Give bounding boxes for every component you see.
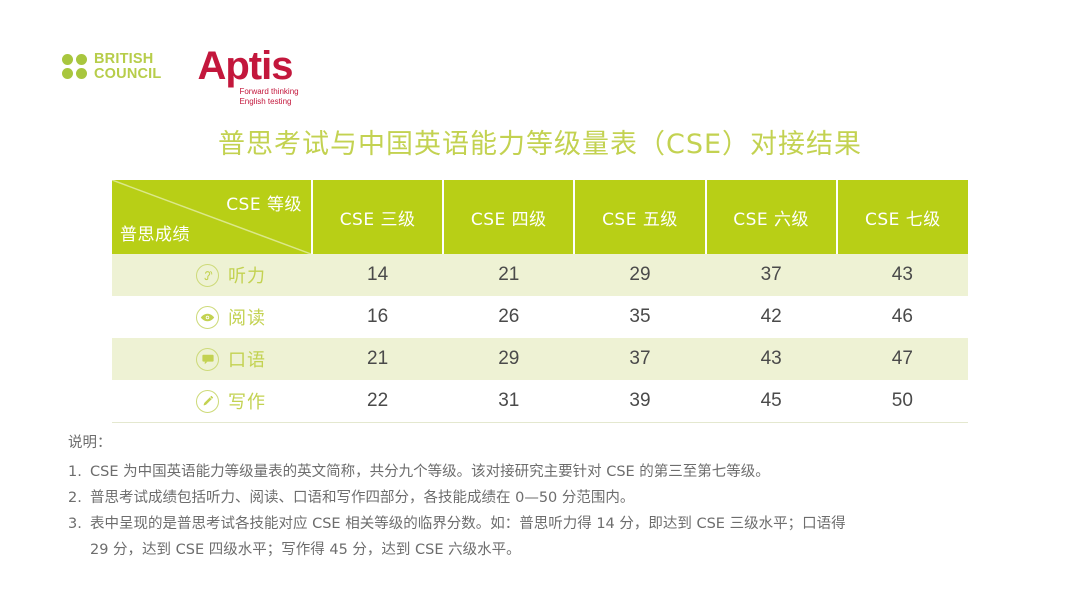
cell-speaking-cse7: 47	[837, 338, 968, 380]
logo-bar: BRITISH COUNCIL Aptis Forward thinking E…	[62, 46, 299, 106]
cell-writing-cse5: 39	[574, 380, 705, 423]
cell-speaking-cse4: 29	[443, 338, 574, 380]
corner-label-rows: 普思成绩	[120, 220, 190, 245]
cell-writing-cse3: 22	[312, 380, 443, 423]
british-council-wordmark: BRITISH COUNCIL	[94, 52, 161, 82]
table-row: 阅读 16 26 35 42 46	[112, 296, 968, 338]
cell-speaking-cse6: 43	[706, 338, 837, 380]
note-item-3: 3. 表中呈现的是普思考试各技能对应 CSE 相关等级的临界分数。如：普思听力得…	[68, 511, 1028, 537]
british-council-logo: BRITISH COUNCIL	[62, 52, 161, 82]
note-number-2: 2.	[68, 485, 90, 511]
cell-speaking-cse5: 37	[574, 338, 705, 380]
note-number-1: 1.	[68, 459, 90, 485]
row-header-speaking: 口语	[112, 338, 312, 380]
skill-label-speaking: 口语	[228, 346, 266, 372]
aptis-logo: Aptis Forward thinking English testing	[197, 46, 298, 106]
skill-label-reading: 阅读	[228, 304, 266, 330]
table-row: 写作 22 31 39 45 50	[112, 380, 968, 423]
column-header-cse6: CSE 六级	[706, 180, 837, 254]
cell-reading-cse4: 26	[443, 296, 574, 338]
note-item-1: 1. CSE 为中国英语能力等级量表的英文简称，共分九个等级。该对接研究主要针对…	[68, 459, 1028, 485]
british-council-line1: BRITISH	[94, 52, 161, 67]
skill-label-listening: 听力	[228, 262, 266, 288]
cell-listening-cse4: 21	[443, 254, 574, 296]
row-header-writing: 写作	[112, 380, 312, 423]
cell-reading-cse5: 35	[574, 296, 705, 338]
cell-writing-cse4: 31	[443, 380, 574, 423]
cell-listening-cse5: 29	[574, 254, 705, 296]
british-council-line2: COUNCIL	[94, 67, 161, 82]
note-item-2: 2. 普思考试成绩包括听力、阅读、口语和写作四部分，各技能成绩在 0—50 分范…	[68, 485, 1028, 511]
note-number-3: 3.	[68, 511, 90, 537]
eye-icon	[196, 306, 219, 329]
column-header-cse7: CSE 七级	[837, 180, 968, 254]
row-header-reading: 阅读	[112, 296, 312, 338]
note-text-3-continued: 29 分，达到 CSE 四级水平；写作得 45 分，达到 CSE 六级水平。	[68, 537, 1028, 563]
note-text-1: CSE 为中国英语能力等级量表的英文简称，共分九个等级。该对接研究主要针对 CS…	[90, 459, 1028, 485]
cell-reading-cse3: 16	[312, 296, 443, 338]
cell-writing-cse6: 45	[706, 380, 837, 423]
cell-speaking-cse3: 21	[312, 338, 443, 380]
slide-root: BRITISH COUNCIL Aptis Forward thinking E…	[0, 0, 1080, 611]
corner-label-columns: CSE 等级	[226, 190, 302, 215]
table-row: 听力 14 21 29 37 43	[112, 254, 968, 296]
british-council-dots-icon	[62, 54, 87, 79]
skill-label-writing: 写作	[228, 388, 266, 414]
note-text-3: 表中呈现的是普思考试各技能对应 CSE 相关等级的临界分数。如：普思听力得 14…	[90, 511, 1028, 537]
notes-heading: 说明：	[68, 430, 1028, 456]
aptis-tagline-line2: English testing	[239, 97, 298, 107]
page-title: 普思考试与中国英语能力等级量表（CSE）对接结果	[0, 128, 1080, 162]
cell-reading-cse6: 42	[706, 296, 837, 338]
note-text-2: 普思考试成绩包括听力、阅读、口语和写作四部分，各技能成绩在 0—50 分范围内。	[90, 485, 1028, 511]
table-corner-header: CSE 等级 普思成绩	[112, 180, 312, 254]
aptis-tagline-line1: Forward thinking	[239, 87, 298, 97]
pen-icon	[196, 390, 219, 413]
cell-writing-cse7: 50	[837, 380, 968, 423]
ear-icon	[196, 264, 219, 287]
cse-mapping-table: CSE 等级 普思成绩 CSE 三级 CSE 四级 CSE 五级 CSE 六级 …	[112, 180, 968, 423]
aptis-tagline: Forward thinking English testing	[239, 87, 298, 106]
cell-listening-cse7: 43	[837, 254, 968, 296]
cell-listening-cse6: 37	[706, 254, 837, 296]
table-header-row: CSE 等级 普思成绩 CSE 三级 CSE 四级 CSE 五级 CSE 六级 …	[112, 180, 968, 254]
aptis-wordmark: Aptis	[197, 46, 298, 86]
cell-listening-cse3: 14	[312, 254, 443, 296]
cell-reading-cse7: 46	[837, 296, 968, 338]
speech-bubble-icon	[196, 348, 219, 371]
row-header-listening: 听力	[112, 254, 312, 296]
column-header-cse4: CSE 四级	[443, 180, 574, 254]
column-header-cse3: CSE 三级	[312, 180, 443, 254]
table-row: 口语 21 29 37 43 47	[112, 338, 968, 380]
notes-section: 说明： 1. CSE 为中国英语能力等级量表的英文简称，共分九个等级。该对接研究…	[68, 430, 1028, 563]
column-header-cse5: CSE 五级	[574, 180, 705, 254]
